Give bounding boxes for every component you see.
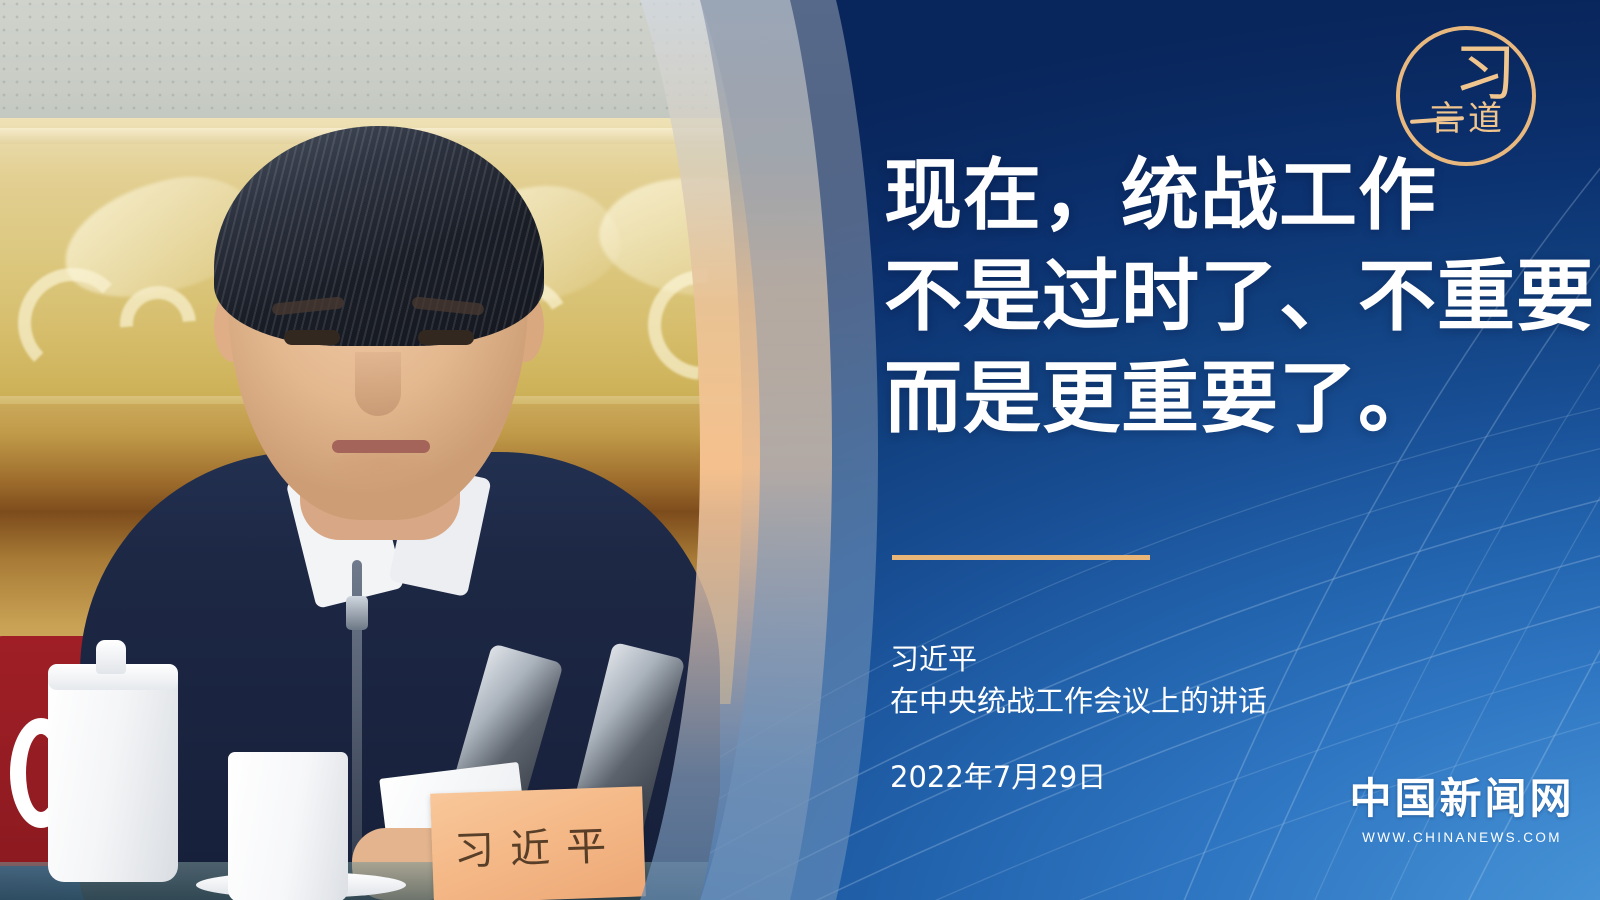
quote-block: 现在，统战工作 不是过时了、不重要了， 而是更重要了。	[884, 146, 1574, 450]
photo-lidded-teacup	[48, 672, 178, 882]
xi-yan-dao-logo[interactable]: 习 言道	[1396, 26, 1536, 166]
quote-line-2: 不是过时了、不重要了，	[884, 247, 1574, 348]
photo-nose	[355, 352, 401, 416]
quote-line-3: 而是更重要了。	[884, 349, 1574, 450]
photo-eye-left	[284, 330, 340, 345]
photo-nameplate: 习近平	[430, 786, 646, 900]
logo-main-char: 习	[1454, 42, 1516, 104]
brand-name: 中国新闻网	[1348, 778, 1576, 820]
chinanews-brand[interactable]: 中国新闻网 WWW.CHINANEWS.COM	[1348, 778, 1576, 845]
poster-canvas: 习近平 习 言道 现在，统战工作 不是过时了、不重要了， 而是更重要了。 习近平…	[0, 0, 1600, 900]
attribution-block: 习近平 在中央统战工作会议上的讲话 2022年7月29日	[890, 638, 1267, 796]
nameplate-text: 习近平	[453, 813, 625, 877]
photo-mug	[228, 752, 348, 900]
photo-mouth	[332, 440, 430, 453]
attribution-speaker: 习近平	[890, 638, 1267, 680]
quote-line-1: 现在，统战工作	[884, 146, 1574, 247]
photo-eye-right	[418, 330, 474, 345]
attribution-occasion: 在中央统战工作会议上的讲话	[890, 680, 1267, 722]
logo-sub-chars: 言道	[1430, 102, 1506, 136]
gold-divider	[892, 555, 1150, 560]
attribution-date: 2022年7月29日	[890, 754, 1267, 796]
photo-teacup-knob	[96, 640, 126, 674]
photo-chin-shadow	[300, 452, 460, 512]
photo-zipper-pull	[346, 596, 368, 630]
brand-url: WWW.CHINANEWS.COM	[1348, 830, 1576, 845]
